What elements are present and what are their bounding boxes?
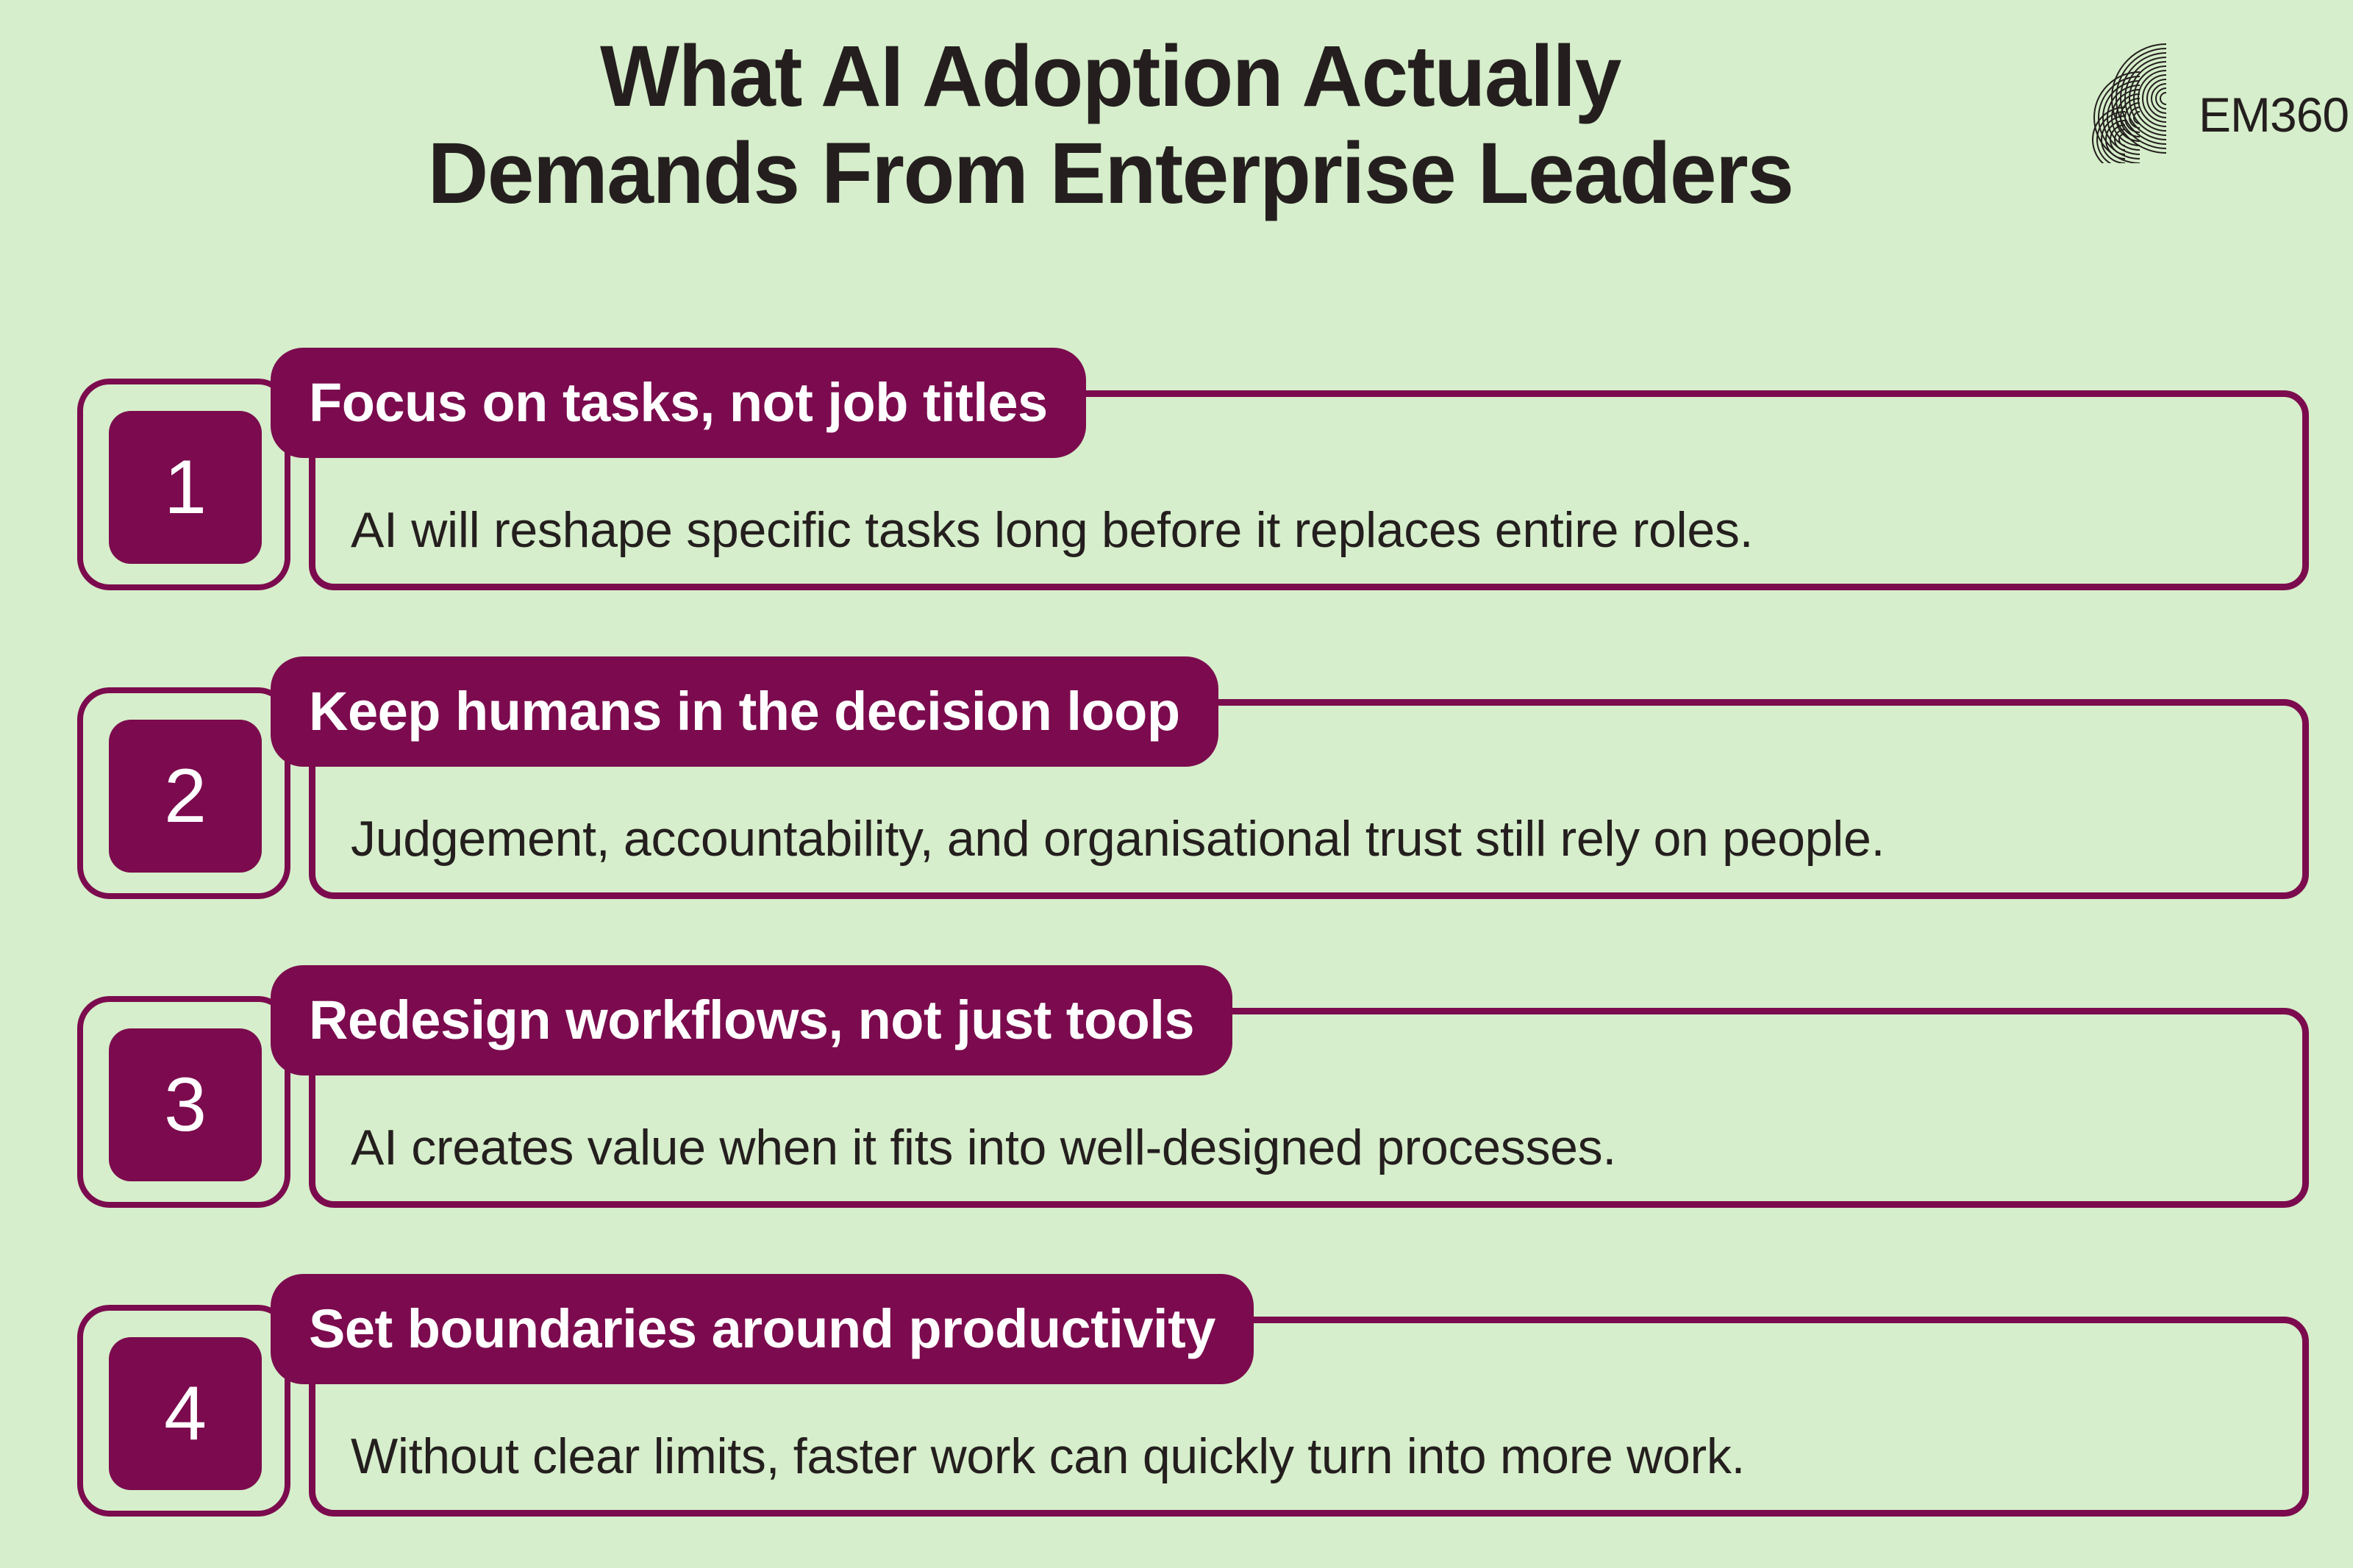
item-number-badge: 2	[109, 720, 262, 873]
item-description: AI creates value when it fits into well-…	[351, 1119, 2263, 1176]
list-item: Judgement, accountability, and organisat…	[0, 665, 2353, 908]
em360-logo: EM360	[2090, 16, 2332, 163]
page-title: What AI Adoption Actually Demands From E…	[176, 32, 2044, 218]
item-description: Without clear limits, faster work can qu…	[351, 1428, 2263, 1485]
tips-list: AI will reshape specific tasks long befo…	[0, 309, 2353, 1568]
item-heading: Focus on tasks, not job titles	[309, 376, 1048, 430]
list-item: Without clear limits, faster work can qu…	[0, 1283, 2353, 1525]
item-heading-pill: Focus on tasks, not job titles	[271, 348, 1086, 458]
item-number-badge: 1	[109, 411, 262, 564]
logo-wordmark: EM360	[2199, 87, 2349, 143]
item-number-frame: 3	[77, 996, 290, 1208]
item-number-badge: 3	[109, 1028, 262, 1181]
item-description: AI will reshape specific tasks long befo…	[351, 501, 2263, 559]
list-item: AI will reshape specific tasks long befo…	[0, 357, 2353, 599]
page-title-line-2: Demands From Enterprise Leaders	[176, 129, 2044, 219]
item-heading: Redesign workflows, not just tools	[309, 993, 1194, 1048]
item-heading: Keep humans in the decision loop	[309, 684, 1180, 739]
page-title-line-1: What AI Adoption Actually	[176, 32, 2044, 122]
item-number-frame: 4	[77, 1305, 290, 1517]
list-item: AI creates value when it fits into well-…	[0, 974, 2353, 1217]
item-number-frame: 1	[77, 379, 290, 590]
item-number-badge: 4	[109, 1337, 262, 1490]
item-number-frame: 2	[77, 687, 290, 899]
item-heading: Set boundaries around productivity	[309, 1302, 1215, 1356]
infographic-header: What AI Adoption Actually Demands From E…	[0, 0, 2353, 309]
item-heading-pill: Set boundaries around productivity	[271, 1274, 1254, 1384]
item-heading-pill: Redesign workflows, not just tools	[271, 965, 1232, 1075]
item-heading-pill: Keep humans in the decision loop	[271, 656, 1218, 767]
item-description: Judgement, accountability, and organisat…	[351, 810, 2263, 867]
